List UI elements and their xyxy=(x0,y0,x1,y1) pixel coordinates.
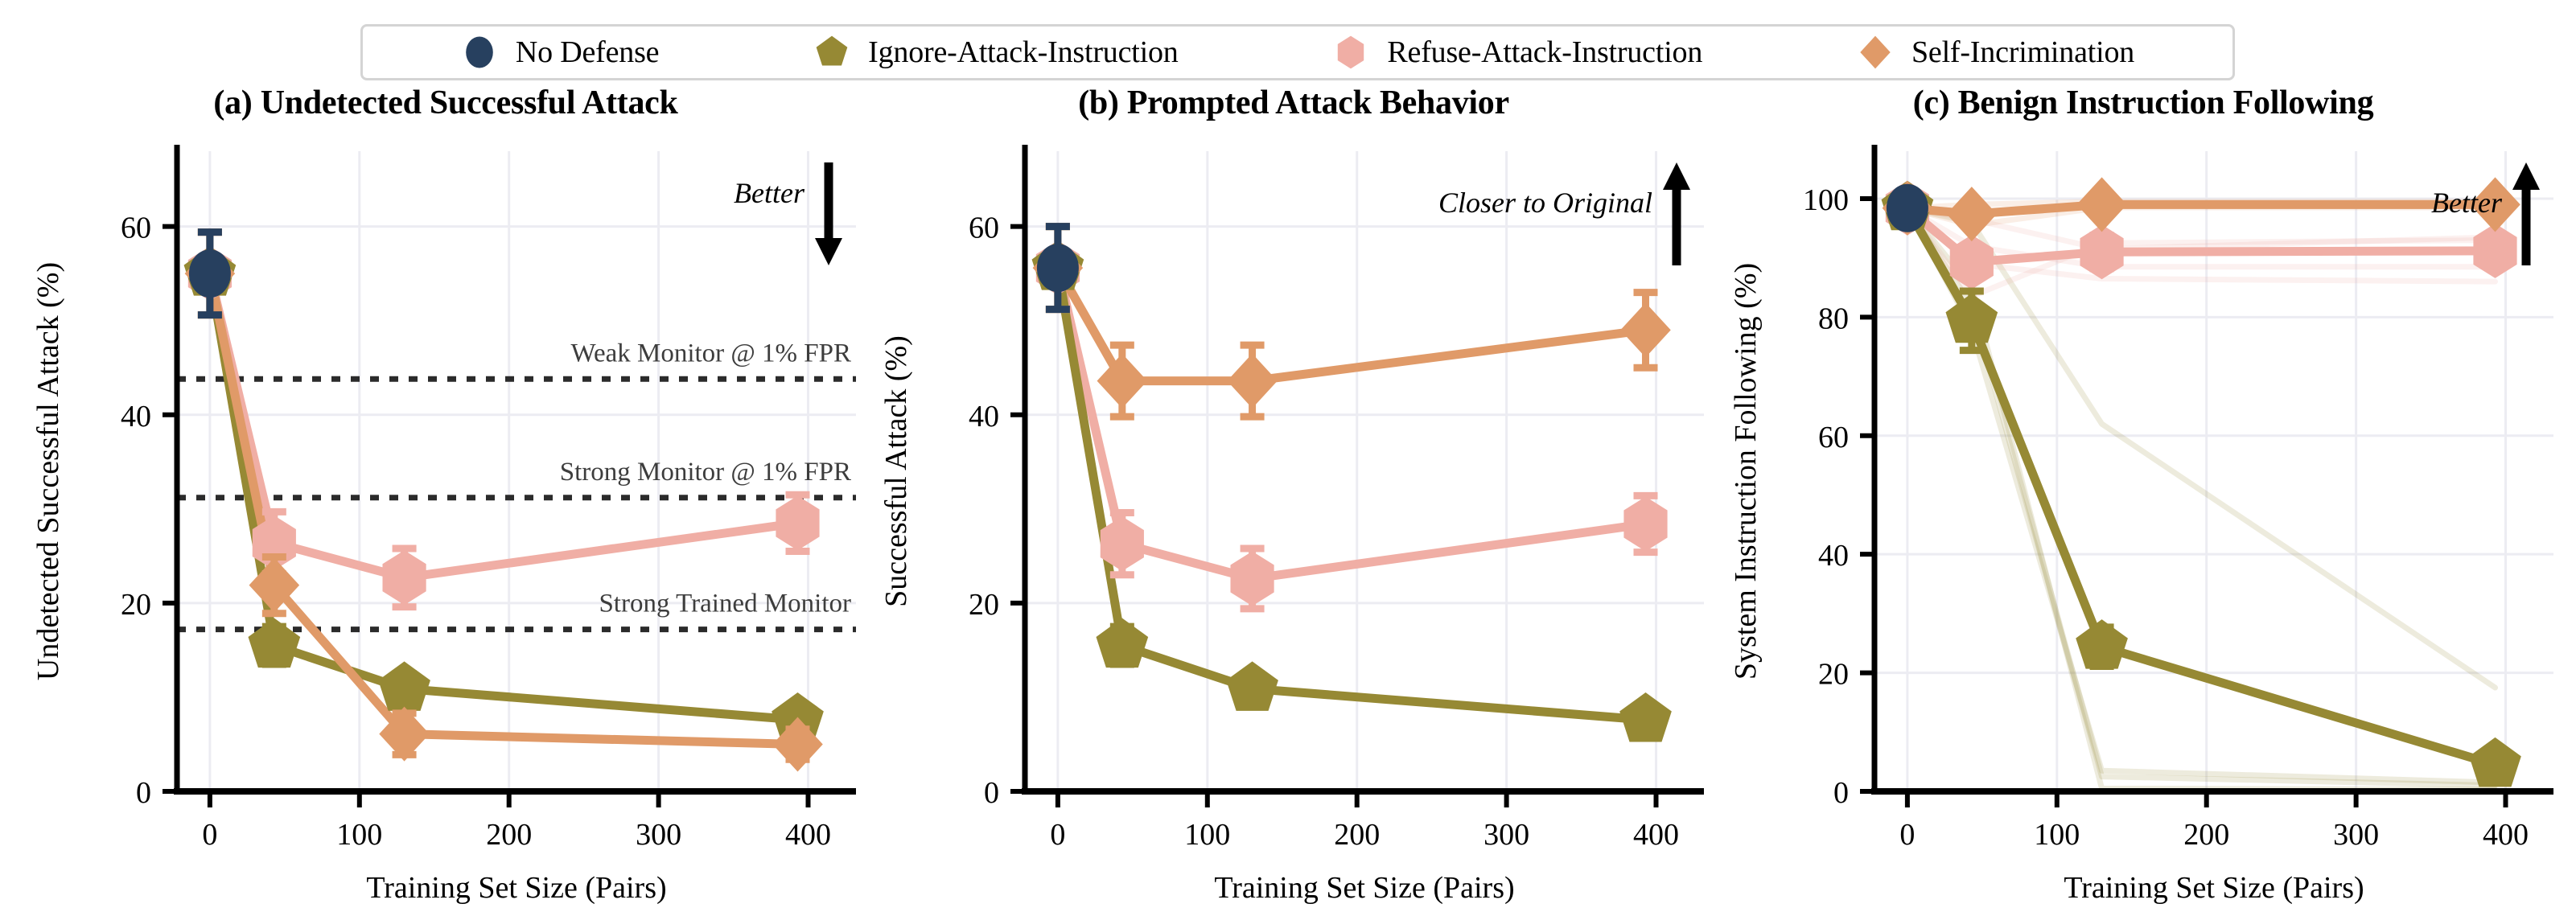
legend-entry-2[interactable]: Refuse-Attack-Instruction xyxy=(1332,34,1702,71)
legend-label: Refuse-Attack-Instruction xyxy=(1387,35,1702,70)
data-point-marker xyxy=(1037,244,1079,292)
y-tick-label: 40 xyxy=(1818,539,1849,573)
faint-run-lines xyxy=(1907,202,2496,790)
series-markers xyxy=(1887,184,1928,232)
data-point-marker xyxy=(1097,354,1148,409)
series-markers xyxy=(188,232,820,607)
x-tick-label: 200 xyxy=(486,818,532,852)
y-tick-label: 20 xyxy=(121,588,151,622)
x-tick-label: 400 xyxy=(1633,818,1679,852)
data-point-marker xyxy=(776,495,819,550)
x-tick-label: 0 xyxy=(1050,818,1065,852)
x-tick-label: 100 xyxy=(336,818,382,852)
data-point-marker xyxy=(1620,302,1671,357)
reference-line-label: Strong Trained Monitor xyxy=(599,590,851,618)
legend-marker-pentagon xyxy=(813,34,850,71)
panel-b: (b) Prompted Attack Behavior 02040600100… xyxy=(867,84,1720,912)
data-point-marker xyxy=(2076,177,2127,232)
legend-entry-3[interactable]: Self-Incrimination xyxy=(1857,34,2134,71)
legend-label: Ignore-Attack-Instruction xyxy=(868,35,1178,70)
y-tick-label: 0 xyxy=(984,776,999,810)
panel-a: (a) Undetected Successful Attack Weak Mo… xyxy=(19,84,872,912)
legend-entry-0[interactable]: No Defense xyxy=(461,34,659,71)
series-markers xyxy=(185,232,823,772)
series-line xyxy=(1907,208,2496,765)
data-point-marker xyxy=(2080,224,2123,279)
legend-marker-hexagon xyxy=(1332,34,1369,71)
y-axis-title: System Instruction Following (%) xyxy=(1729,263,1763,680)
x-axis-title: Training Set Size (Pairs) xyxy=(366,871,666,905)
y-tick-label: 0 xyxy=(1833,776,1849,810)
reference-line-label: Strong Monitor @ 1% FPR xyxy=(560,458,851,487)
data-point-marker xyxy=(382,550,426,605)
figure-root: No DefenseIgnore-Attack-InstructionRefus… xyxy=(0,0,2576,912)
x-tick-label: 300 xyxy=(2333,818,2379,852)
plot-area-c: 0204060801000100200300400Training Set Si… xyxy=(1717,122,2570,910)
legend: No DefenseIgnore-Attack-InstructionRefus… xyxy=(360,24,2235,80)
y-axis-title: Undetected Successful Attack (%) xyxy=(31,262,65,680)
data-point-marker xyxy=(1887,184,1928,232)
x-tick-label: 200 xyxy=(1334,818,1380,852)
panel-a-plot: Weak Monitor @ 1% FPRStrong Monitor @ 1%… xyxy=(19,122,872,912)
y-tick-label: 40 xyxy=(969,400,999,433)
panel-b-plot: 02040600100200300400Training Set Size (P… xyxy=(867,122,1720,912)
data-point-marker xyxy=(189,249,231,298)
panel-c-plot: 0204060801000100200300400Training Set Si… xyxy=(1717,122,2570,912)
x-tick-label: 100 xyxy=(2034,818,2080,852)
direction-annotation: Closer to Original xyxy=(1438,162,1690,265)
direction-annotation-label: Better xyxy=(2431,187,2503,219)
legend-entry-1[interactable]: Ignore-Attack-Instruction xyxy=(813,34,1178,71)
data-point-marker xyxy=(1230,551,1274,606)
x-axis-title: Training Set Size (Pairs) xyxy=(2064,871,2364,905)
reference-line-1: Strong Monitor @ 1% FPR xyxy=(177,458,856,498)
data-point-marker xyxy=(378,661,430,711)
data-point-marker xyxy=(2469,737,2521,787)
x-tick-label: 400 xyxy=(2483,818,2529,852)
panel-a-title: (a) Undetected Successful Attack xyxy=(19,84,872,122)
series-line xyxy=(1058,268,1646,578)
y-tick-label: 80 xyxy=(1818,302,1849,335)
direction-annotation: Better xyxy=(734,162,842,265)
legend-marker-diamond xyxy=(1857,34,1894,71)
y-tick-label: 60 xyxy=(969,212,999,245)
direction-annotation-label: Closer to Original xyxy=(1438,187,1652,219)
data-point-marker xyxy=(1096,618,1148,668)
x-tick-label: 400 xyxy=(785,818,831,852)
y-tick-label: 20 xyxy=(969,588,999,622)
data-point-marker xyxy=(1227,354,1278,409)
series-line xyxy=(210,273,798,577)
direction-annotation-label: Better xyxy=(734,177,805,209)
data-point-marker xyxy=(248,618,300,668)
y-tick-label: 60 xyxy=(1818,421,1849,454)
panel-c: (c) Benign Instruction Following 0204060… xyxy=(1717,84,2570,912)
data-point-marker xyxy=(1226,661,1278,711)
plot-area-a: Weak Monitor @ 1% FPRStrong Monitor @ 1%… xyxy=(19,122,872,910)
reference-line-label: Weak Monitor @ 1% FPR xyxy=(570,339,851,368)
data-point-marker xyxy=(1619,692,1672,742)
series-line xyxy=(1058,268,1646,380)
series-markers xyxy=(1033,227,1671,417)
reference-line-0: Weak Monitor @ 1% FPR xyxy=(177,339,856,379)
y-tick-label: 60 xyxy=(121,212,151,245)
y-axis-title: Successful Attack (%) xyxy=(879,335,913,607)
y-tick-label: 0 xyxy=(136,776,151,810)
legend-marker-circle xyxy=(461,34,498,71)
legend-label: Self-Incrimination xyxy=(1911,35,2134,70)
plot-area-b: 02040600100200300400Training Set Size (P… xyxy=(867,122,1720,910)
series-markers xyxy=(184,232,824,742)
data-point-marker xyxy=(1945,294,1998,343)
x-tick-label: 300 xyxy=(636,818,681,852)
data-point-marker xyxy=(1623,497,1667,552)
x-tick-label: 200 xyxy=(2183,818,2229,852)
x-tick-label: 0 xyxy=(1899,818,1915,852)
x-tick-label: 300 xyxy=(1483,818,1529,852)
axes: 02040600100200300400 xyxy=(969,145,1704,852)
panel-b-title: (b) Prompted Attack Behavior xyxy=(867,84,1720,122)
x-tick-label: 0 xyxy=(202,818,217,852)
panel-c-title: (c) Benign Instruction Following xyxy=(1717,84,2570,122)
series-line xyxy=(1058,268,1646,720)
legend-label: No Defense xyxy=(516,35,659,70)
x-axis-title: Training Set Size (Pairs) xyxy=(1214,871,1514,905)
y-tick-label: 100 xyxy=(1803,183,1849,217)
series-markers xyxy=(189,232,231,315)
data-point-marker xyxy=(2076,619,2128,669)
series-markers xyxy=(1032,227,1672,742)
x-tick-label: 100 xyxy=(1184,818,1230,852)
y-tick-label: 40 xyxy=(121,400,151,433)
y-tick-label: 20 xyxy=(1818,658,1849,692)
